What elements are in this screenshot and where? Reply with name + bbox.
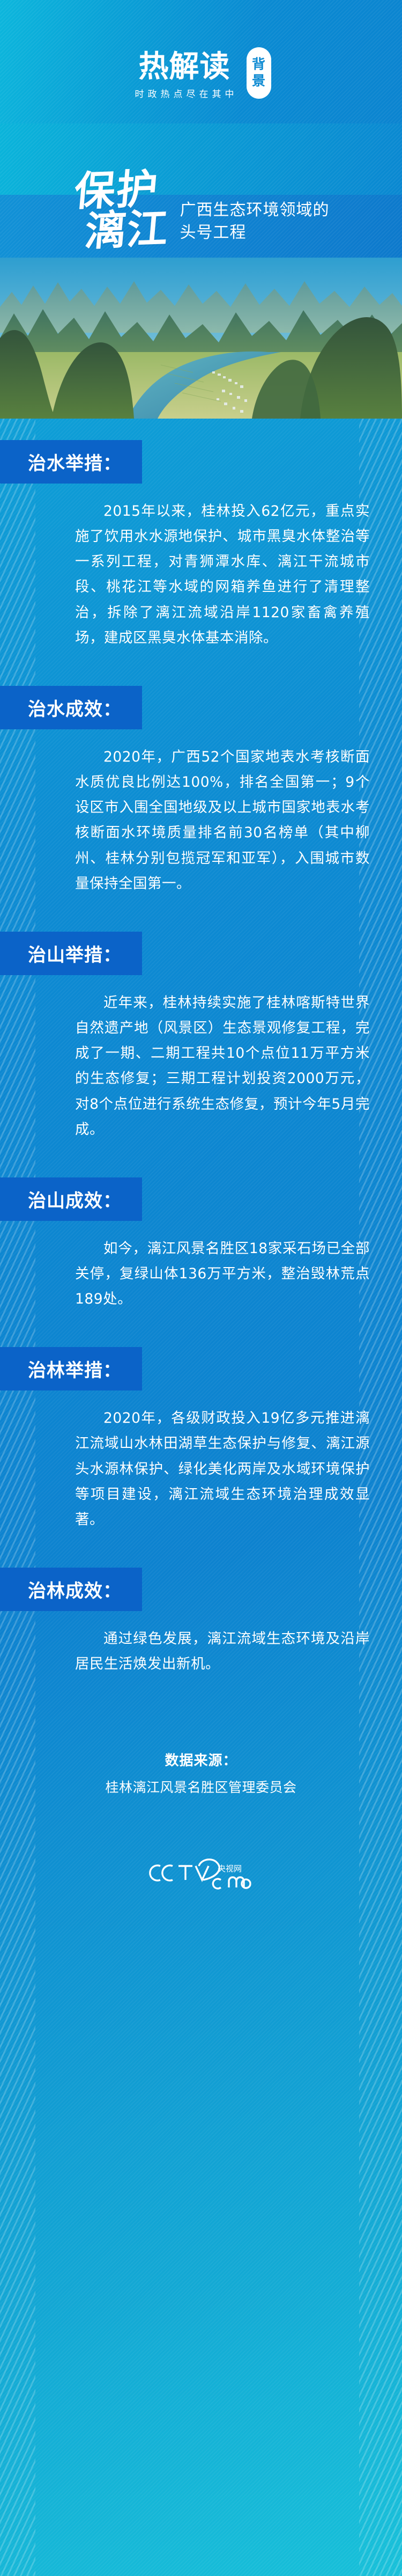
page-subtitle-line-1: 广西生态环境领域的 bbox=[180, 199, 330, 222]
source-value: 桂林漓江风景名胜区管理委员会 bbox=[0, 1777, 402, 1796]
badge-char-1: 背 bbox=[252, 56, 265, 73]
section-body: 2015年以来，桂林投入62亿元，重点实施了饮用水水源地保护、城市黑臭水体整治等… bbox=[0, 489, 402, 664]
hero-title-block: 保护 漓江 广西生态环境领域的 头号工程 bbox=[0, 123, 402, 258]
hero-photo bbox=[0, 258, 402, 419]
karst-landscape-illustration bbox=[0, 258, 402, 419]
infographic-page: 热解读 时政热点尽在其中 背 景 保护 漓江 广西生态环境领域的 头号工程 bbox=[0, 0, 402, 2576]
brand-slogan: 时政热点尽在其中 bbox=[131, 86, 238, 100]
hero-content: 保护 漓江 广西生态环境领域的 头号工程 bbox=[0, 123, 402, 258]
section-heading: 治山成效： bbox=[0, 1177, 142, 1221]
sections-container: 治水举措： 2015年以来，桂林投入62亿元，重点实施了饮用水水源地保护、城市黑… bbox=[0, 419, 402, 1712]
background-badge: 背 景 bbox=[247, 47, 271, 99]
section-body: 2020年，各级财政投入19亿多元推进漓江流域山水林田湖草生态保护与修复、漓江源… bbox=[0, 1396, 402, 1546]
section-heading: 治林举措： bbox=[0, 1347, 142, 1391]
section-zhishan-chengxiao: 治山成效： 如今，漓江风景名胜区18家采石场已全部关停，复绿山体136万平方米，… bbox=[0, 1156, 402, 1326]
page-subtitle: 广西生态环境领域的 头号工程 bbox=[180, 199, 330, 250]
cctv-logo[interactable]: 央视网 bbox=[0, 1855, 402, 1891]
section-zhishui-jucuo: 治水举措： 2015年以来，桂林投入62亿元，重点实施了饮用水水源地保护、城市黑… bbox=[0, 419, 402, 664]
cctv-logo-cn-text: 央视网 bbox=[218, 1864, 242, 1874]
section-heading: 治林成效： bbox=[0, 1568, 142, 1611]
badge-char-2: 景 bbox=[252, 73, 265, 90]
source-label: 数据来源： bbox=[0, 1750, 402, 1769]
section-zhilin-jucuo: 治林举措： 2020年，各级财政投入19亿多元推进漓江流域山水林田湖草生态保护与… bbox=[0, 1326, 402, 1546]
cctv-logo-icon: 央视网 bbox=[147, 1855, 255, 1891]
section-body: 如今，漓江风景名胜区18家采石场已全部关停，复绿山体136万平方米，整治毁林荒点… bbox=[0, 1226, 402, 1326]
page-title: 保护 漓江 bbox=[69, 167, 174, 252]
section-zhishan-jucuo: 治山举措： 近年来，桂林持续实施了桂林喀斯特世界自然遗产地（风景区）生态景观修复… bbox=[0, 910, 402, 1156]
section-body: 2020年，广西52个国家地表水考核断面水质优良比例达100%，排名全国第一；9… bbox=[0, 735, 402, 910]
page-footer: 数据来源： 桂林漓江风景名胜区管理委员会 央视网 bbox=[0, 1712, 402, 1891]
section-body: 近年来，桂林持续实施了桂林喀斯特世界自然遗产地（风景区）生态景观修复工程，完成了… bbox=[0, 980, 402, 1156]
section-zhishui-chengxiao: 治水成效： 2020年，广西52个国家地表水考核断面水质优良比例达100%，排名… bbox=[0, 664, 402, 910]
section-heading: 治山举措： bbox=[0, 932, 142, 975]
brand-block: 热解读 时政热点尽在其中 bbox=[131, 52, 238, 100]
page-subtitle-line-2: 头号工程 bbox=[180, 222, 330, 245]
brand-row: 热解读 时政热点尽在其中 背 景 bbox=[0, 52, 402, 100]
page-header: 热解读 时政热点尽在其中 背 景 bbox=[0, 0, 402, 123]
section-body: 通过绿色发展，漓江流域生态环境及沿岸居民生活焕发出新机。 bbox=[0, 1616, 402, 1690]
section-heading: 治水成效： bbox=[0, 686, 142, 729]
brand-title: 热解读 bbox=[139, 52, 230, 83]
section-zhilin-chengxiao: 治林成效： 通过绿色发展，漓江流域生态环境及沿岸居民生活焕发出新机。 bbox=[0, 1546, 402, 1690]
section-heading: 治水举措： bbox=[0, 440, 142, 484]
